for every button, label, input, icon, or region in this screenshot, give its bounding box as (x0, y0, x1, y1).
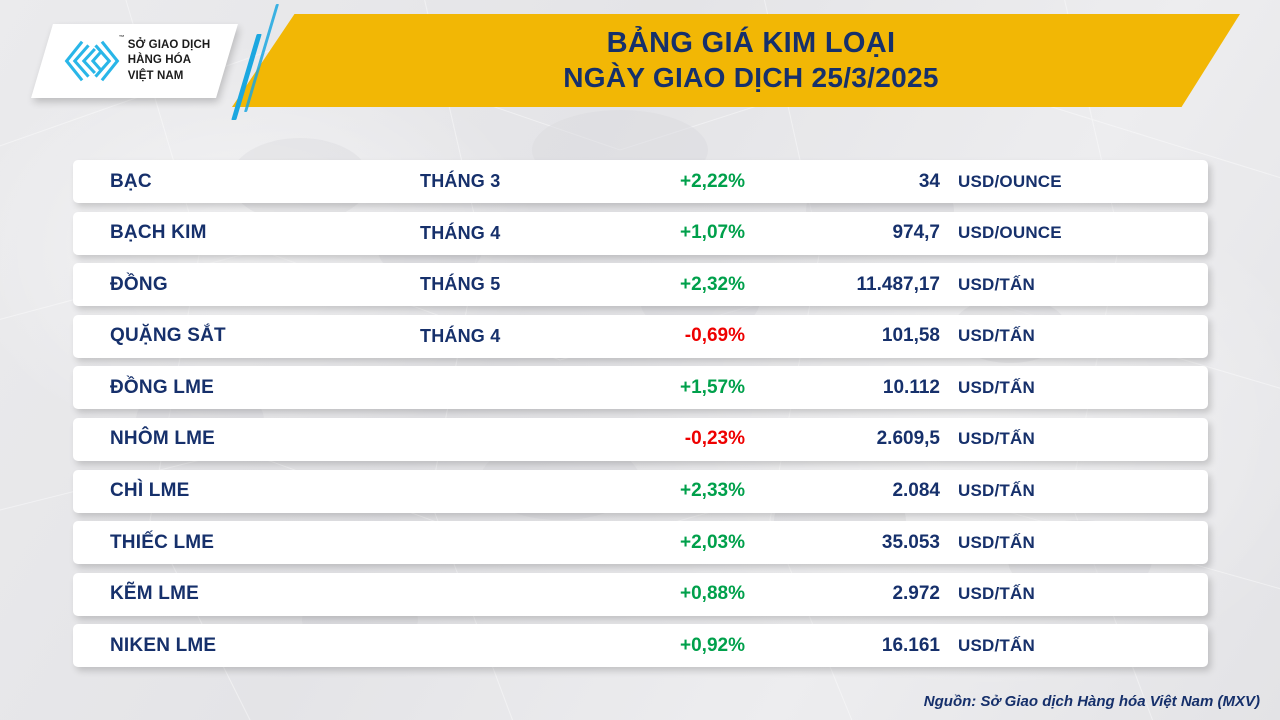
price-value: 2.609,5 (773, 428, 940, 450)
commodity-name: BẠCH KIM (110, 222, 207, 244)
mxv-logo-icon (63, 39, 121, 83)
table-row[interactable]: BẠCTHÁNG 3+2,22%34USD/OUNCE (73, 160, 1208, 203)
price-value: 101,58 (773, 325, 940, 347)
table-row[interactable]: ĐỒNG LME+1,57%10.112USD/TẤN (73, 366, 1208, 409)
source-attribution: Nguồn: Sở Giao dịch Hàng hóa Việt Nam (M… (924, 693, 1260, 710)
page-title-line-1: BẢNG GIÁ KIM LOẠI (607, 27, 896, 60)
commodity-name: QUẶNG SẮT (110, 325, 226, 347)
price-unit: USD/TẤN (958, 584, 1035, 604)
table-row[interactable]: NHÔM LME-0,23%2.609,5USD/TẤN (73, 418, 1208, 461)
title-banner: BẢNG GIÁ KIM LOẠI NGÀY GIAO DỊCH 25/3/20… (232, 14, 1240, 107)
table-row[interactable]: ĐỒNGTHÁNG 5+2,32%11.487,17USD/TẤN (73, 263, 1208, 306)
price-value: 35.053 (773, 532, 940, 554)
commodity-name: ĐỒNG LME (110, 377, 214, 399)
change-percent: +2,32% (593, 274, 745, 296)
logo-card: ™ SỞ GIAO DỊCH HÀNG HÓA VIỆT NAM (31, 24, 238, 98)
change-percent: +0,88% (593, 583, 745, 605)
price-value: 2.084 (773, 480, 940, 502)
price-unit: USD/OUNCE (958, 172, 1062, 192)
contract-month: THÁNG 5 (420, 274, 500, 295)
change-percent: +2,33% (593, 480, 745, 502)
change-percent: +2,03% (593, 532, 745, 554)
contract-month: THÁNG 4 (420, 326, 500, 347)
table-row[interactable]: NIKEN LME+0,92%16.161USD/TẤN (73, 624, 1208, 667)
page-title-line-2: NGÀY GIAO DỊCH 25/3/2025 (563, 62, 939, 94)
change-percent: -0,69% (593, 325, 745, 347)
trademark-symbol: ™ (119, 35, 125, 43)
commodity-name: NIKEN LME (110, 635, 216, 657)
price-unit: USD/OUNCE (958, 223, 1062, 243)
price-value: 34 (773, 171, 940, 193)
table-row[interactable]: CHÌ LME+2,33%2.084USD/TẤN (73, 470, 1208, 513)
page-header: BẢNG GIÁ KIM LOẠI NGÀY GIAO DỊCH 25/3/20… (0, 0, 1280, 122)
commodity-name: BẠC (110, 171, 152, 193)
price-unit: USD/TẤN (958, 533, 1035, 553)
price-unit: USD/TẤN (958, 636, 1035, 656)
price-value: 11.487,17 (773, 274, 940, 296)
logo-wordmark: ™ SỞ GIAO DỊCH HÀNG HÓA VIỆT NAM (128, 38, 211, 84)
price-value: 2.972 (773, 583, 940, 605)
commodity-name: THIẾC LME (110, 532, 214, 554)
table-row[interactable]: KẼM LME+0,88%2.972USD/TẤN (73, 573, 1208, 616)
price-table: BẠCTHÁNG 3+2,22%34USD/OUNCEBẠCH KIMTHÁNG… (73, 160, 1208, 676)
price-unit: USD/TẤN (958, 481, 1035, 501)
change-percent: +1,57% (593, 377, 745, 399)
price-unit: USD/TẤN (958, 429, 1035, 449)
commodity-name: CHÌ LME (110, 480, 190, 502)
contract-month: THÁNG 3 (420, 171, 500, 192)
logo-line-2: HÀNG HÓA (128, 53, 211, 68)
price-value: 16.161 (773, 635, 940, 657)
change-percent: +1,07% (593, 222, 745, 244)
commodity-name: ĐỒNG (110, 274, 168, 296)
logo-line-3: VIỆT NAM (128, 69, 211, 84)
price-value: 10.112 (773, 377, 940, 399)
price-value: 974,7 (773, 222, 940, 244)
contract-month: THÁNG 4 (420, 223, 500, 244)
price-unit: USD/TẤN (958, 275, 1035, 295)
change-percent: +0,92% (593, 635, 745, 657)
commodity-name: NHÔM LME (110, 428, 215, 450)
change-percent: +2,22% (593, 171, 745, 193)
table-row[interactable]: QUẶNG SẮTTHÁNG 4-0,69%101,58USD/TẤN (73, 315, 1208, 358)
table-row[interactable]: THIẾC LME+2,03%35.053USD/TẤN (73, 521, 1208, 564)
table-row[interactable]: BẠCH KIMTHÁNG 4+1,07%974,7USD/OUNCE (73, 212, 1208, 255)
price-unit: USD/TẤN (958, 378, 1035, 398)
logo-line-1: SỞ GIAO DỊCH (128, 38, 211, 53)
change-percent: -0,23% (593, 428, 745, 450)
metal-price-board: BẢNG GIÁ KIM LOẠI NGÀY GIAO DỊCH 25/3/20… (0, 0, 1280, 720)
price-unit: USD/TẤN (958, 326, 1035, 346)
commodity-name: KẼM LME (110, 583, 199, 605)
